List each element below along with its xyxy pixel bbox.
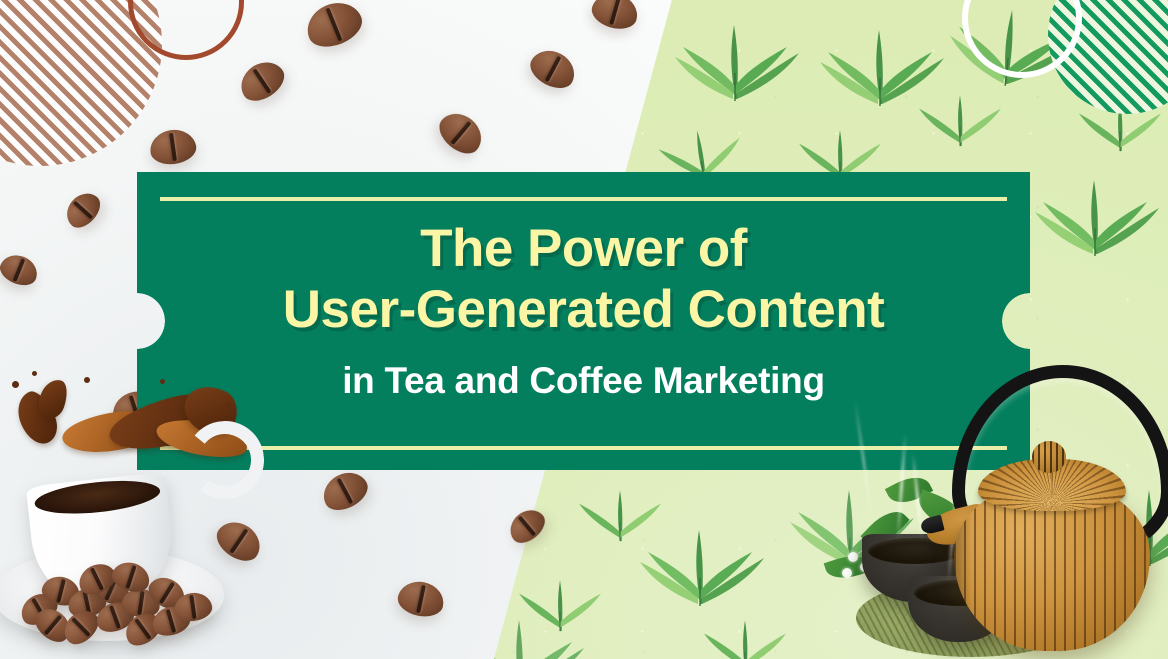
title-line-2: User-Generated Content <box>137 283 1030 336</box>
banner-canvas: The Power of User-Generated Content in T… <box>0 0 1168 659</box>
banner-rule-top <box>160 197 1007 201</box>
title-banner: The Power of User-Generated Content in T… <box>137 172 1030 470</box>
banner-subtitle: in Tea and Coffee Marketing <box>137 362 1030 399</box>
title-line-1: The Power of <box>137 222 1030 275</box>
banner-rule-bottom <box>160 446 1007 450</box>
banner-text-block: The Power of User-Generated Content in T… <box>137 222 1030 399</box>
